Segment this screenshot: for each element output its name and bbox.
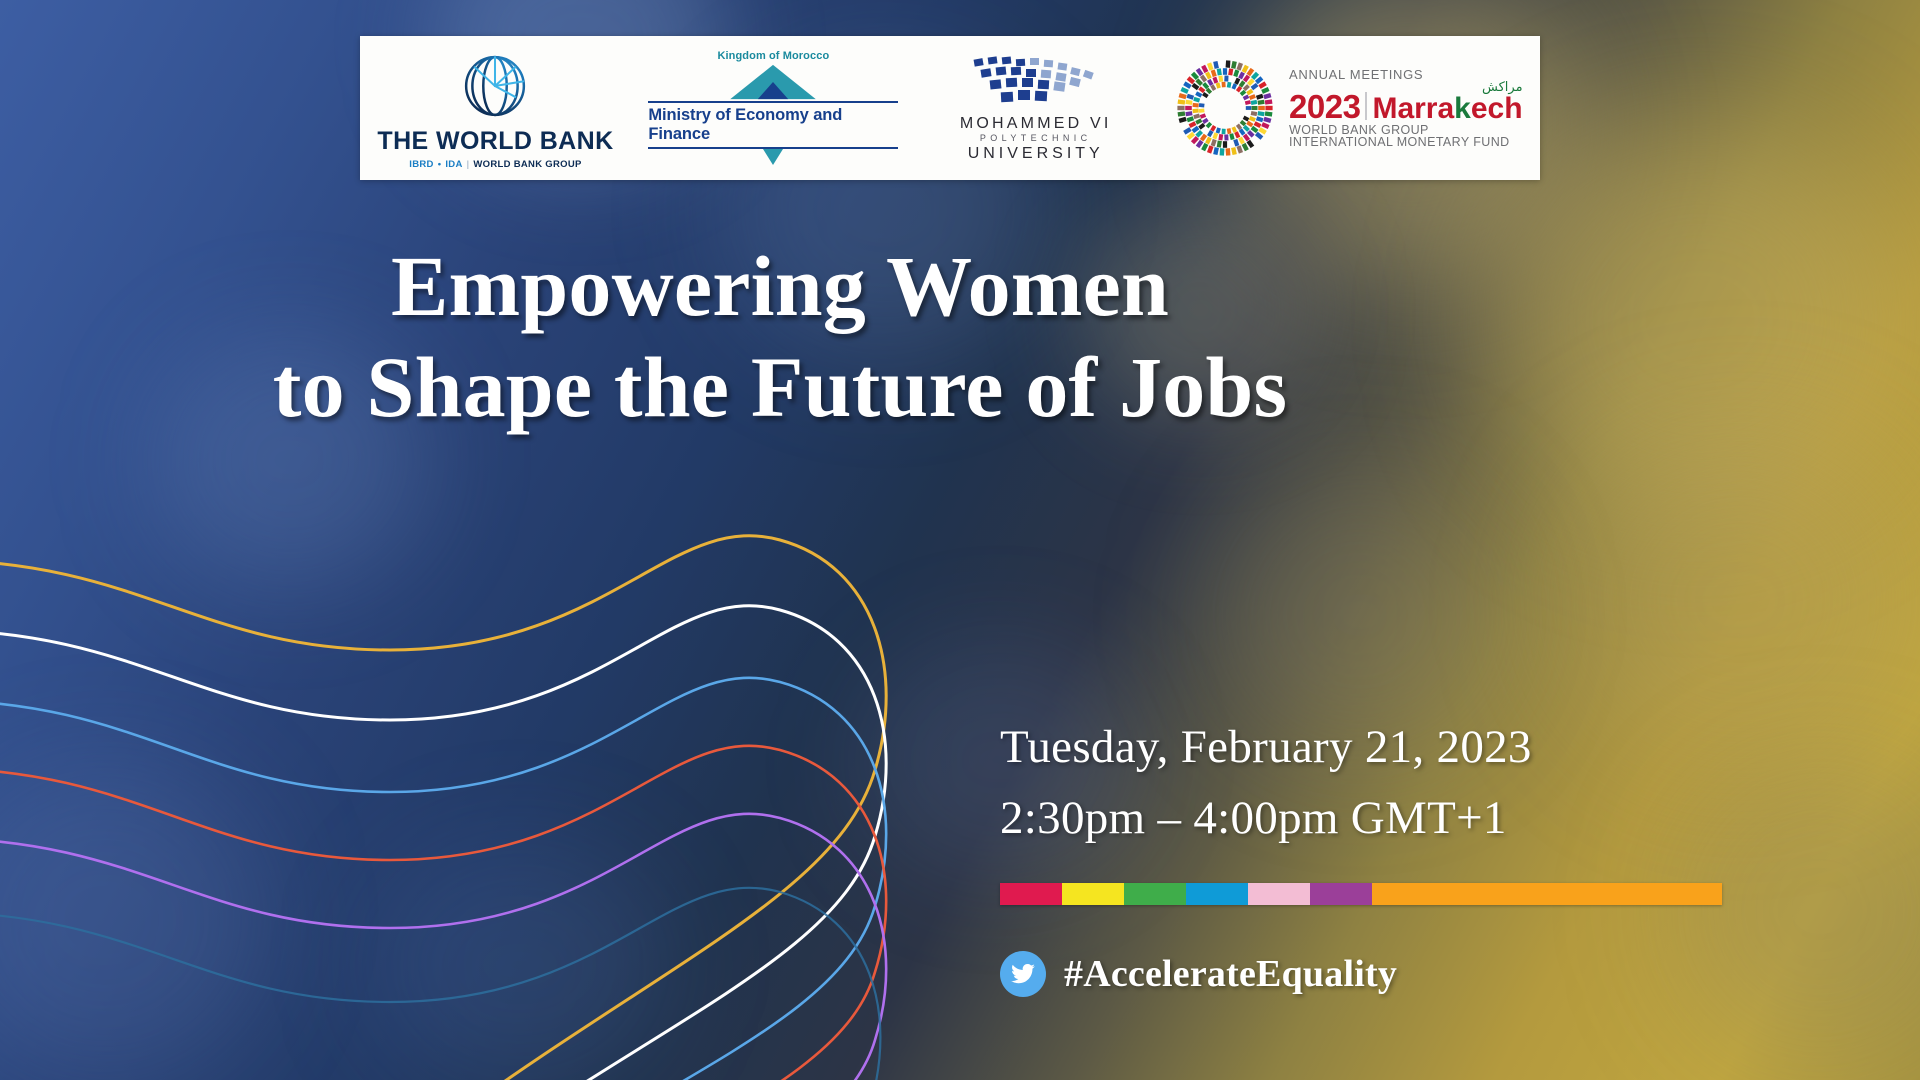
- swatch-yellow: [1062, 883, 1124, 905]
- globe-icon: [456, 47, 534, 125]
- triangle-mountain-icon: [668, 63, 878, 101]
- ministry-kingdom-label: Kingdom of Morocco: [717, 50, 829, 62]
- ministry-name: Ministry of Economy and Finance: [648, 103, 898, 147]
- wb-ibrd: IBRD: [409, 160, 433, 170]
- event-date: Tuesday, February 21, 2023: [1000, 712, 1760, 783]
- annual-meetings-year: 2023: [1289, 92, 1360, 122]
- checkered-wave-icon: [956, 53, 1116, 115]
- wb-divider: |: [467, 160, 470, 170]
- swatch-green: [1124, 883, 1186, 905]
- event-info-block: Tuesday, February 21, 2023 2:30pm – 4:00…: [1000, 712, 1760, 997]
- annual-meetings-city: مراكش Marrakech: [1372, 82, 1522, 122]
- event-hashtag[interactable]: #AccelerateEquality: [1064, 952, 1397, 996]
- logo-mohammed-vi-university: MOHAMMED VI POLYTECHNIC UNIVERSITY: [933, 53, 1138, 163]
- swatch-purple: [1310, 883, 1372, 905]
- flags-ring-icon: [1173, 56, 1277, 160]
- wb-ida: IDA: [445, 160, 462, 170]
- sponsor-logo-bar: THE WORLD BANK IBRD • IDA | WORLD BANK G…: [360, 36, 1540, 180]
- wb-dot: •: [438, 160, 442, 170]
- swatch-light-pink: [1248, 883, 1310, 905]
- flow-line-lightblue: [0, 678, 886, 1080]
- swatch-crimson: [1000, 883, 1062, 905]
- twitter-bird-icon[interactable]: [1000, 951, 1046, 997]
- world-bank-name: THE WORLD BANK: [377, 129, 613, 154]
- logo-ministry-economy-finance: Kingdom of Morocco Ministry of Economy a…: [648, 50, 898, 167]
- city-part2: k: [1454, 92, 1471, 125]
- triangle-down-icon: [668, 149, 878, 167]
- flow-line-violet: [0, 814, 886, 1080]
- city-latin: Marrakech: [1372, 95, 1522, 122]
- event-time: 2:30pm – 4:00pm GMT+1: [1000, 783, 1760, 854]
- university-line2: POLYTECHNIC: [980, 133, 1092, 145]
- social-row[interactable]: #AccelerateEquality: [1000, 951, 1760, 997]
- university-line1: MOHAMMED VI: [960, 115, 1112, 133]
- logo-annual-meetings: ANNUAL MEETINGS 2023 مراكش Marrakech WOR…: [1173, 56, 1523, 160]
- annual-meetings-label: ANNUAL MEETINGS: [1289, 68, 1523, 81]
- world-bank-subline: IBRD • IDA | WORLD BANK GROUP: [409, 160, 581, 170]
- logo-world-bank: THE WORLD BANK IBRD • IDA | WORLD BANK G…: [377, 47, 613, 170]
- headline-line-1: Empowering Women: [391, 238, 1169, 334]
- annual-meetings-divider: [1365, 92, 1367, 120]
- event-headline: Empowering Women to Shape the Future of …: [0, 236, 1560, 437]
- event-banner: THE WORLD BANK IBRD • IDA | WORLD BANK G…: [0, 0, 1920, 1080]
- decorative-flow-lines: [0, 520, 1030, 1080]
- wb-group: WORLD BANK GROUP: [473, 160, 581, 170]
- color-swatch-bar: [1000, 883, 1722, 905]
- city-part1: Marra: [1372, 92, 1454, 125]
- swatch-blue: [1186, 883, 1248, 905]
- headline-line-2: to Shape the Future of Jobs: [0, 337, 1560, 438]
- annual-meetings-year-city: 2023 مراكش Marrakech: [1289, 82, 1523, 122]
- swatch-orange: [1372, 883, 1722, 905]
- annual-meetings-org2: INTERNATIONAL MONETARY FUND: [1289, 136, 1523, 149]
- annual-meetings-text: ANNUAL MEETINGS 2023 مراكش Marrakech WOR…: [1289, 68, 1523, 149]
- university-line3: UNIVERSITY: [968, 145, 1104, 163]
- city-part3: ech: [1471, 92, 1523, 125]
